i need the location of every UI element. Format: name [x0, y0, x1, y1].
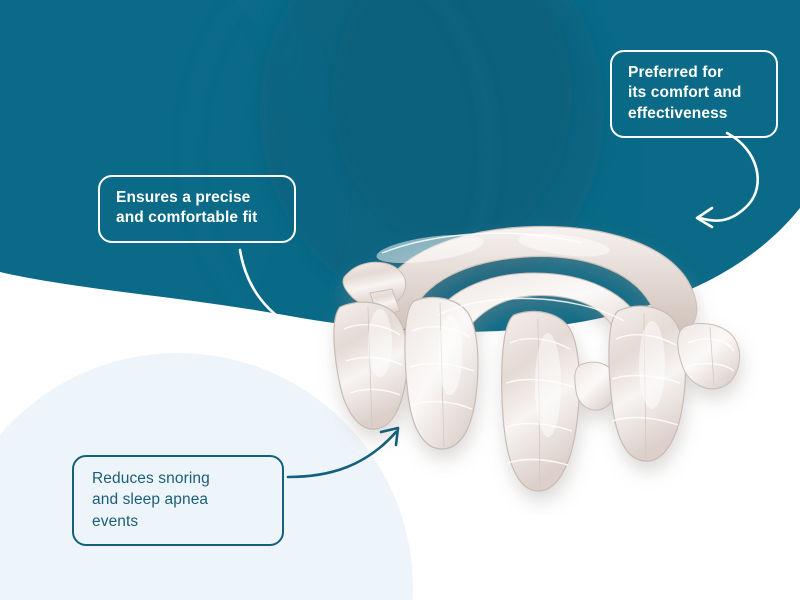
infographic-canvas: Preferred for its comfort and effectiven…	[0, 0, 800, 600]
callout-ensures: Ensures a precise and comfortable fit	[98, 175, 296, 243]
callout-preferred: Preferred for its comfort and effectiven…	[610, 50, 778, 138]
callout-reduces: Reduces snoring and sleep apnea events	[72, 455, 284, 546]
appliance-segment-1	[334, 302, 408, 429]
appliance-right-clasp	[678, 323, 740, 388]
product-image-dental-appliance	[318, 215, 758, 515]
